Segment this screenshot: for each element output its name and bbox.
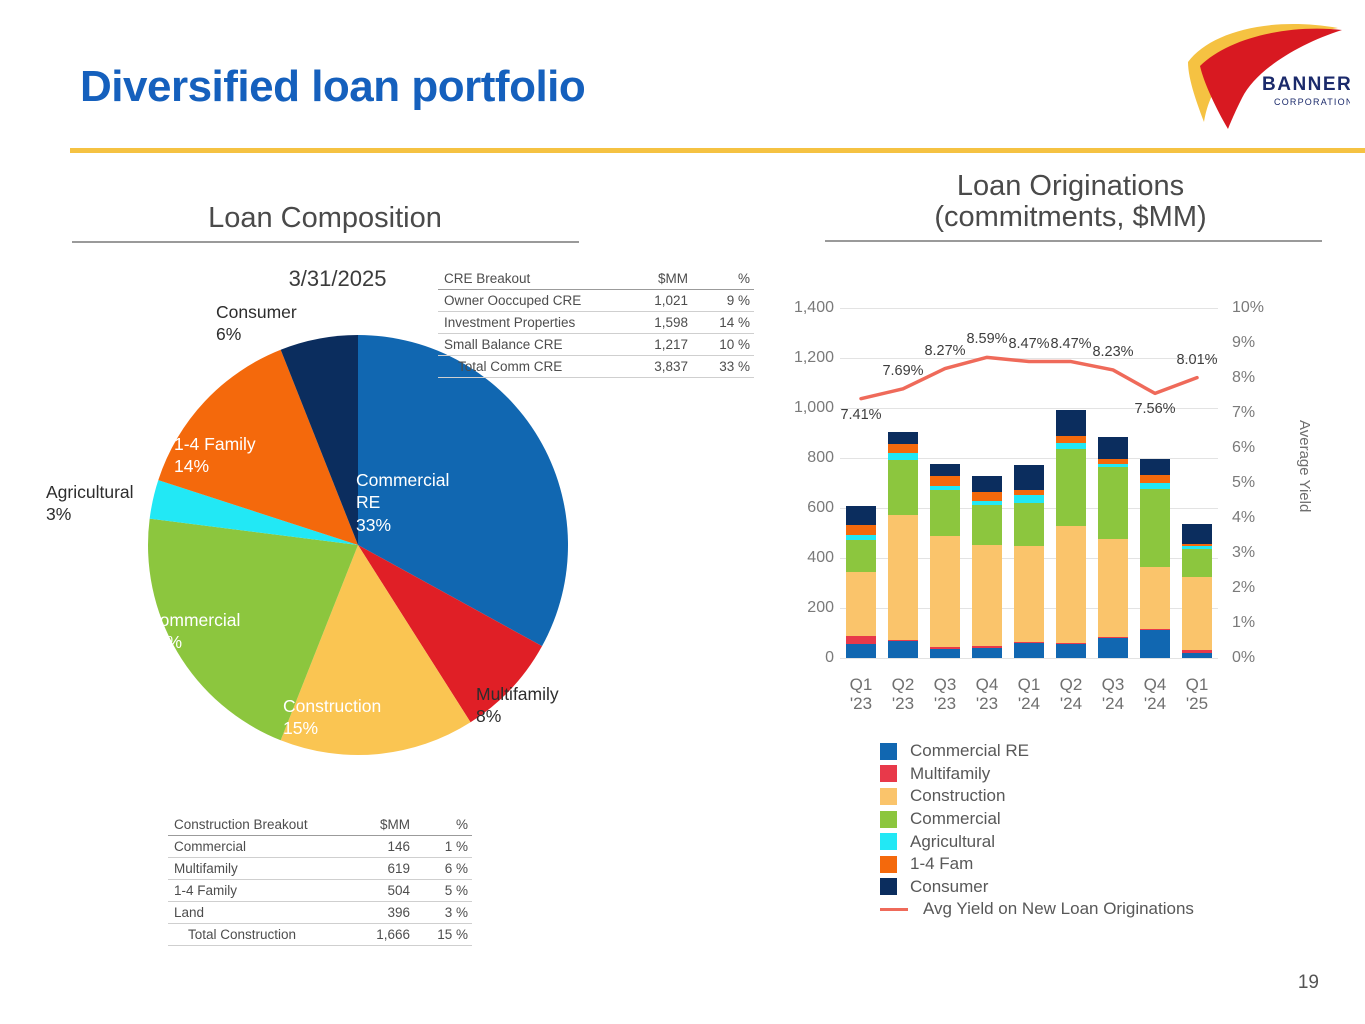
- cre-breakout-table: CRE Breakout $MM % Owner Ooccuped CRE1,0…: [438, 268, 754, 378]
- bar-segment-construction: [1098, 539, 1128, 637]
- secondary-y-axis-tick: 10%: [1232, 299, 1274, 317]
- row-percent: 9 %: [692, 290, 754, 312]
- row-amount: 504: [344, 880, 414, 902]
- bar-segment-commercial-re: [1098, 638, 1128, 658]
- legend-label: Agricultural: [910, 832, 995, 852]
- table-row: Total Comm CRE3,83733 %: [438, 356, 754, 378]
- bar-segment-1-4-fam: [888, 444, 918, 454]
- yield-data-label: 8.47%: [1008, 336, 1049, 352]
- loan-originations-heading-line1: Loan Originations: [957, 170, 1184, 202]
- legend-label: Consumer: [910, 877, 988, 897]
- row-amount: 1,666: [344, 924, 414, 946]
- bar-segment-commercial-re: [1140, 630, 1170, 658]
- bar-segment-consumer: [846, 506, 876, 525]
- pie-label-construction: Construction15%: [283, 695, 381, 740]
- row-label: 1-4 Family: [168, 880, 344, 902]
- bar-segment-consumer: [1098, 437, 1128, 459]
- legend-swatch: [880, 788, 897, 805]
- bar-segment-1-4-fam: [1140, 475, 1170, 483]
- legend-item-agricultural[interactable]: Agricultural: [880, 830, 1194, 853]
- pie-label-commercial-re: CommercialRE33%: [356, 469, 449, 536]
- bar-segment-1-4-fam: [846, 525, 876, 535]
- page-number: 19: [1298, 972, 1319, 994]
- bar-segment-commercial-re: [888, 641, 918, 659]
- x-tick-year: '23: [892, 694, 914, 713]
- legend-swatch: [880, 856, 897, 873]
- x-tick-quarter: Q1: [850, 675, 873, 694]
- bar-segment-1-4-fam: [972, 492, 1002, 501]
- bar-segment-consumer: [972, 476, 1002, 492]
- table-row: Investment Properties1,59814 %: [438, 312, 754, 334]
- legend-item-multifamily[interactable]: Multifamily: [880, 763, 1194, 786]
- secondary-y-axis-tick: 6%: [1232, 439, 1274, 457]
- legend-label: Avg Yield on New Loan Originations: [923, 899, 1194, 919]
- row-percent: 15 %: [414, 924, 472, 946]
- y-axis-tick: 1,000: [780, 399, 834, 417]
- bar-column-q125: [1182, 524, 1212, 658]
- x-tick-year: '24: [1144, 694, 1166, 713]
- table-row: Land3963 %: [168, 902, 472, 924]
- bar-segment-construction: [1014, 546, 1044, 642]
- row-amount: 1,598: [622, 312, 692, 334]
- bar-column-q424: [1140, 459, 1170, 659]
- bar-column-q224: [1056, 410, 1086, 658]
- y-axis-tick: 800: [780, 449, 834, 467]
- row-amount: 1,217: [622, 334, 692, 356]
- legend-swatch: [880, 743, 897, 760]
- row-percent: 3 %: [414, 902, 472, 924]
- x-tick-quarter: Q3: [934, 675, 957, 694]
- secondary-y-axis-tick: 5%: [1232, 474, 1274, 492]
- x-tick-year: '25: [1186, 694, 1208, 713]
- bar-segment-commercial: [1056, 449, 1086, 526]
- x-tick-quarter: Q4: [976, 675, 999, 694]
- row-percent: 1 %: [414, 836, 472, 858]
- bar-segment-consumer: [930, 464, 960, 476]
- logo-text-main: BANNER: [1262, 74, 1350, 95]
- x-tick-quarter: Q3: [1102, 675, 1125, 694]
- secondary-y-axis-tick: 2%: [1232, 579, 1274, 597]
- secondary-y-axis-tick: 1%: [1232, 614, 1274, 632]
- yield-data-label: 8.47%: [1050, 336, 1091, 352]
- row-amount: 1,021: [622, 290, 692, 312]
- yield-data-label: 7.69%: [882, 363, 923, 379]
- bar-column-q124: [1014, 465, 1044, 658]
- bar-segment-construction: [1182, 577, 1212, 650]
- legend-label: Construction: [910, 786, 1005, 806]
- legend-item-1-4-fam[interactable]: 1-4 Fam: [880, 853, 1194, 876]
- bar-segment-commercial-re: [972, 648, 1002, 659]
- row-amount: 3,837: [622, 356, 692, 378]
- loan-composition-divider: [72, 241, 579, 243]
- y-axis-tick: 600: [780, 499, 834, 517]
- legend-item-commercial[interactable]: Commercial: [880, 808, 1194, 831]
- bar-segment-1-4-fam: [930, 476, 960, 486]
- cre-header-pct: %: [692, 268, 754, 290]
- legend-swatch: [880, 765, 897, 782]
- table-header-row: Construction Breakout $MM %: [168, 814, 472, 836]
- con-header-label: Construction Breakout: [168, 814, 344, 836]
- row-label: Owner Ooccuped CRE: [438, 290, 622, 312]
- secondary-y-axis-tick: 3%: [1232, 544, 1274, 562]
- secondary-y-axis-tick: 0%: [1232, 649, 1274, 667]
- row-percent: 14 %: [692, 312, 754, 334]
- legend-label: Commercial: [910, 809, 1001, 829]
- x-tick-quarter: Q2: [1060, 675, 1083, 694]
- x-tick-year: '24: [1060, 694, 1082, 713]
- x-axis-tick: Q1'25: [1170, 675, 1224, 714]
- banner-corporation-logo: BANNER CORPORATION: [1170, 14, 1350, 129]
- loan-originations-heading: Loan Originations (commitments, $MM): [818, 171, 1323, 234]
- table-row: Small Balance CRE1,21710 %: [438, 334, 754, 356]
- secondary-y-axis-tick: 7%: [1232, 404, 1274, 422]
- bar-segment-1-4-fam: [1056, 436, 1086, 443]
- bar-column-q323: [930, 464, 960, 659]
- secondary-y-axis-tick: 8%: [1232, 369, 1274, 387]
- yield-data-label: 8.59%: [966, 331, 1007, 347]
- legend-label: Commercial RE: [910, 741, 1029, 761]
- bar-segment-construction: [930, 536, 960, 647]
- table-header-row: CRE Breakout $MM %: [438, 268, 754, 290]
- secondary-y-axis-tick: 4%: [1232, 509, 1274, 527]
- con-header-amount: $MM: [344, 814, 414, 836]
- x-tick-year: '23: [976, 694, 998, 713]
- legend-item-avg-yield-on-new-loan-originations[interactable]: Avg Yield on New Loan Originations: [880, 898, 1194, 921]
- y-axis-tick: 1,200: [780, 349, 834, 367]
- loan-originations-heading-line2: (commitments, $MM): [934, 201, 1206, 233]
- logo-text-sub: CORPORATION: [1274, 97, 1350, 107]
- table-row: Owner Ooccuped CRE1,0219 %: [438, 290, 754, 312]
- bar-segment-commercial-re: [1056, 644, 1086, 659]
- row-amount: 396: [344, 902, 414, 924]
- pie-label-consumer: Consumer6%: [216, 301, 297, 346]
- row-label: Small Balance CRE: [438, 334, 622, 356]
- bar-segment-agricultural: [888, 453, 918, 460]
- table-row: 1-4 Family5045 %: [168, 880, 472, 902]
- bar-segment-commercial: [888, 460, 918, 515]
- bar-segment-commercial: [1140, 489, 1170, 567]
- con-header-pct: %: [414, 814, 472, 836]
- table-row: Multifamily6196 %: [168, 858, 472, 880]
- bar-segment-commercial-re: [846, 644, 876, 658]
- yield-data-label: 7.56%: [1134, 401, 1175, 417]
- page-title: Diversified loan portfolio: [80, 62, 585, 112]
- legend-item-consumer[interactable]: Consumer: [880, 876, 1194, 899]
- y-axis-tick: 400: [780, 549, 834, 567]
- y-axis-tick: 200: [780, 599, 834, 617]
- bar-segment-construction: [1056, 526, 1086, 644]
- legend-line: [880, 908, 908, 911]
- bar-segment-consumer: [1182, 524, 1212, 544]
- table-row: Commercial1461 %: [168, 836, 472, 858]
- row-percent: 33 %: [692, 356, 754, 378]
- bar-segment-commercial: [846, 540, 876, 573]
- x-tick-quarter: Q1: [1186, 675, 1209, 694]
- bar-segment-commercial: [930, 490, 960, 537]
- cre-header-amount: $MM: [622, 268, 692, 290]
- row-label: Investment Properties: [438, 312, 622, 334]
- bar-column-q324: [1098, 437, 1128, 659]
- row-amount: 146: [344, 836, 414, 858]
- bar-segment-commercial: [1182, 549, 1212, 577]
- row-percent: 6 %: [414, 858, 472, 880]
- legend-label: 1-4 Fam: [910, 854, 973, 874]
- row-label: Total Construction: [168, 924, 344, 946]
- pie-label-1-4-family: 1-4 Family14%: [174, 433, 256, 478]
- bar-segment-commercial: [1098, 467, 1128, 540]
- gridline: [840, 658, 1218, 659]
- cre-header-label: CRE Breakout: [438, 268, 622, 290]
- legend-item-commercial-re[interactable]: Commercial RE: [880, 740, 1194, 763]
- row-percent: 10 %: [692, 334, 754, 356]
- bar-segment-multifamily: [846, 636, 876, 645]
- x-tick-year: '23: [934, 694, 956, 713]
- chart-plot-area: Q1'23Q2'23Q3'23Q4'23Q1'24Q2'24Q3'24Q4'24…: [840, 308, 1218, 658]
- legend-swatch: [880, 811, 897, 828]
- chart-legend: Commercial REMultifamilyConstructionComm…: [880, 740, 1194, 921]
- loan-composition-heading: Loan Composition: [70, 203, 580, 234]
- row-label: Commercial: [168, 836, 344, 858]
- bar-segment-construction: [888, 515, 918, 640]
- bar-segment-consumer: [1056, 410, 1086, 436]
- bar-segment-agricultural: [1014, 495, 1044, 503]
- construction-breakout-table: Construction Breakout $MM % Commercial14…: [168, 814, 472, 946]
- row-percent: 5 %: [414, 880, 472, 902]
- legend-label: Multifamily: [910, 764, 990, 784]
- bar-segment-consumer: [888, 432, 918, 444]
- pie-label-agricultural: Agricultural3%: [46, 481, 134, 526]
- y-axis-tick: 1,400: [780, 299, 834, 317]
- legend-item-construction[interactable]: Construction: [880, 785, 1194, 808]
- yield-data-label: 8.23%: [1092, 344, 1133, 360]
- bar-column-q223: [888, 432, 918, 658]
- row-amount: 619: [344, 858, 414, 880]
- legend-swatch: [880, 833, 897, 850]
- bar-segment-consumer: [1140, 459, 1170, 475]
- bar-segment-commercial-re: [1014, 643, 1044, 658]
- title-divider: [70, 148, 1365, 153]
- pie-label-commercial: Commercial21%: [147, 609, 240, 654]
- bar-column-q123: [846, 506, 876, 658]
- bar-segment-consumer: [1014, 465, 1044, 490]
- yield-data-label: 8.01%: [1176, 352, 1217, 368]
- loan-originations-divider: [825, 240, 1322, 242]
- bar-column-q423: [972, 476, 1002, 659]
- secondary-y-axis-title: Average Yield: [1296, 420, 1313, 512]
- legend-swatch: [880, 878, 897, 895]
- yield-data-label: 8.27%: [924, 343, 965, 359]
- loan-originations-bar-chart: 02004006008001,0001,2001,400 0%1%2%3%4%5…: [780, 290, 1340, 690]
- table-row: Total Construction1,66615 %: [168, 924, 472, 946]
- row-label: Multifamily: [168, 858, 344, 880]
- pie-label-multifamily: Multifamily8%: [476, 683, 559, 728]
- x-tick-quarter: Q2: [892, 675, 915, 694]
- x-tick-quarter: Q4: [1144, 675, 1167, 694]
- legend-line-marker: [880, 908, 910, 911]
- y-axis-tick: 0: [780, 649, 834, 667]
- bar-segment-commercial-re: [1182, 653, 1212, 659]
- yield-data-label: 7.41%: [840, 407, 881, 423]
- bar-segment-construction: [846, 572, 876, 636]
- row-label: Land: [168, 902, 344, 924]
- row-label: Total Comm CRE: [438, 356, 622, 378]
- x-tick-quarter: Q1: [1018, 675, 1041, 694]
- secondary-y-axis-tick: 9%: [1232, 334, 1274, 352]
- bar-segment-construction: [972, 545, 1002, 646]
- bar-segment-construction: [1140, 567, 1170, 630]
- bar-segment-commercial: [1014, 503, 1044, 546]
- x-tick-year: '23: [850, 694, 872, 713]
- x-tick-year: '24: [1102, 694, 1124, 713]
- bar-segment-commercial: [972, 505, 1002, 545]
- bar-segment-commercial-re: [930, 649, 960, 659]
- x-tick-year: '24: [1018, 694, 1040, 713]
